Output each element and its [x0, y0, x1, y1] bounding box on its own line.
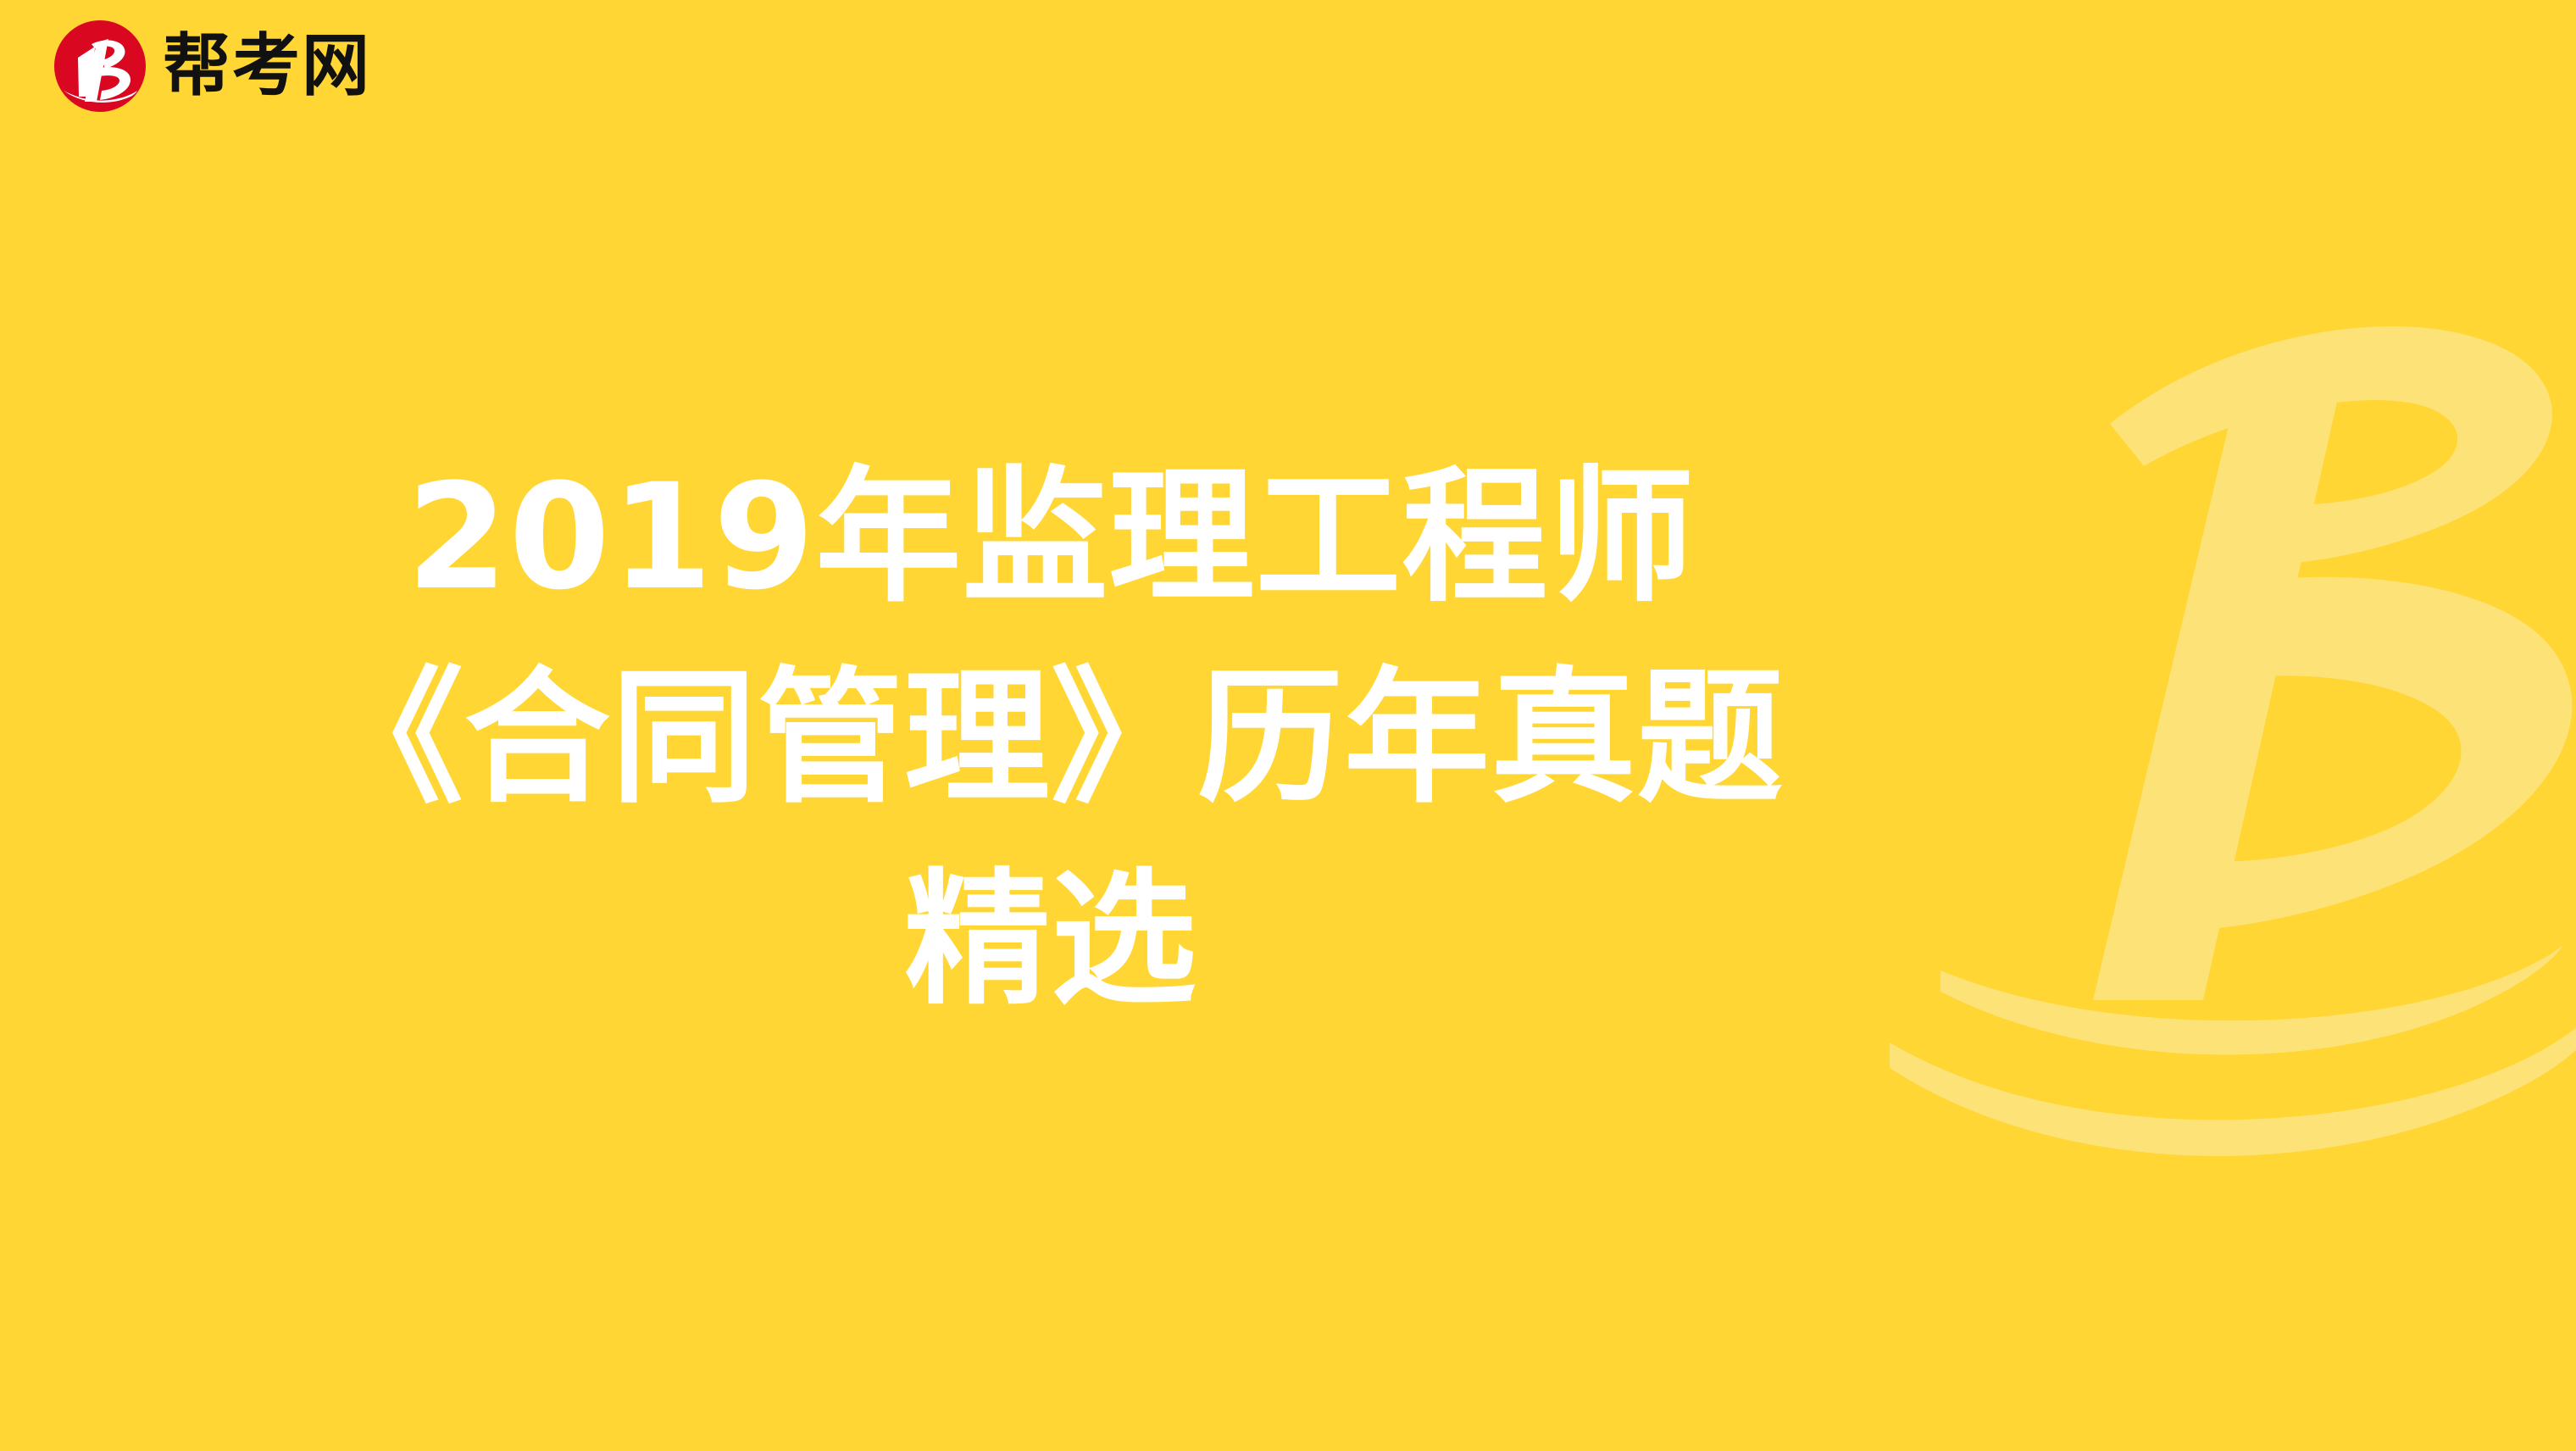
title-line-3: 精选 [904, 839, 1197, 1040]
promo-banner: 帮考网 2019年监理工程师 《合同管理》历年真题 精选 [0, 0, 2576, 1451]
title-block: 2019年监理工程师 《合同管理》历年真题 精选 [0, 0, 2101, 1451]
title-line-2: 《合同管理》历年真题 [318, 637, 1784, 838]
brand-mark-icon [53, 19, 147, 114]
brand-logo[interactable]: 帮考网 [53, 19, 371, 114]
title-line-1: 2019年监理工程师 [407, 436, 1696, 637]
brand-name-text: 帮考网 [163, 32, 371, 100]
